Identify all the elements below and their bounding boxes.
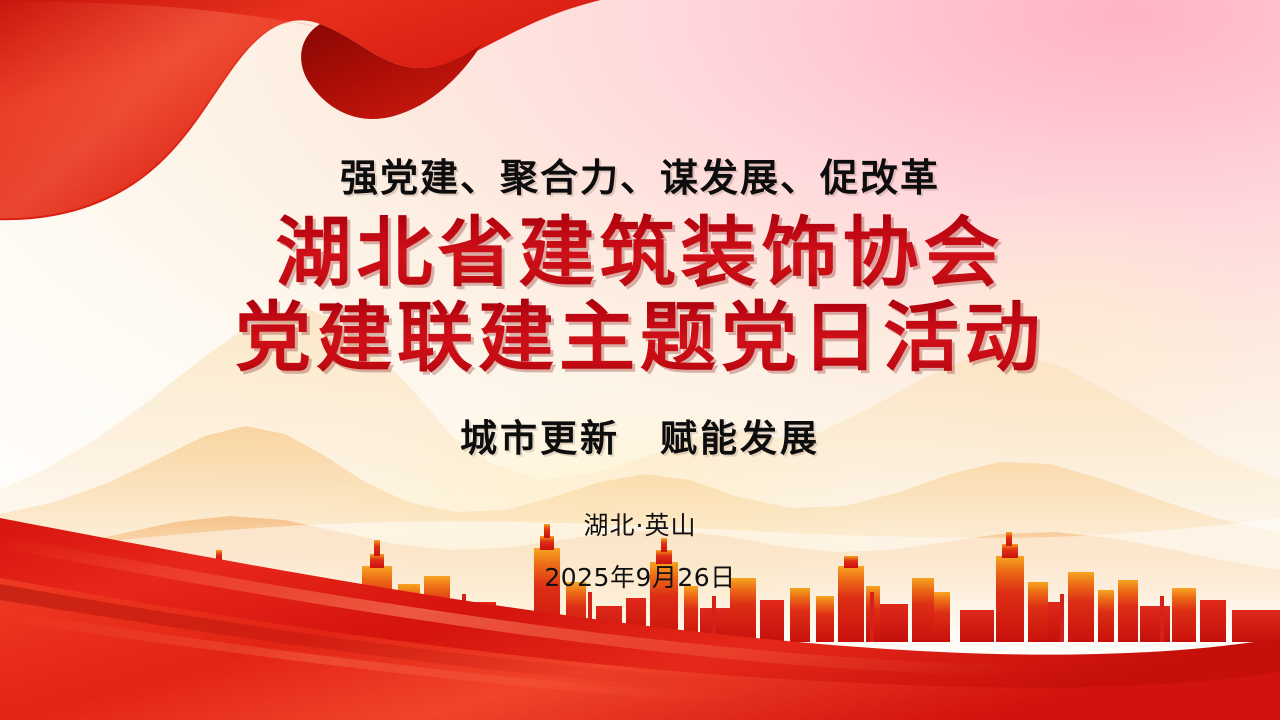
poster-canvas: 强党建、聚合力、谋发展、促改革 湖北省建筑装饰协会 党建联建主题党日活动 城市更…: [0, 0, 1280, 720]
poster-title-line-1: 湖北省建筑装饰协会: [0, 210, 1280, 296]
poster-location: 湖北·英山: [0, 506, 1280, 542]
poster-text-content: 强党建、聚合力、谋发展、促改革 湖北省建筑装饰协会 党建联建主题党日活动 城市更…: [0, 0, 1280, 720]
poster-date: 2025年9月26日: [0, 558, 1280, 594]
poster-subtitle: 城市更新 赋能发展: [0, 408, 1280, 462]
poster-title-line-2: 党建联建主题党日活动: [0, 295, 1280, 381]
poster-kicker-slogan: 强党建、聚合力、谋发展、促改革: [0, 147, 1280, 202]
